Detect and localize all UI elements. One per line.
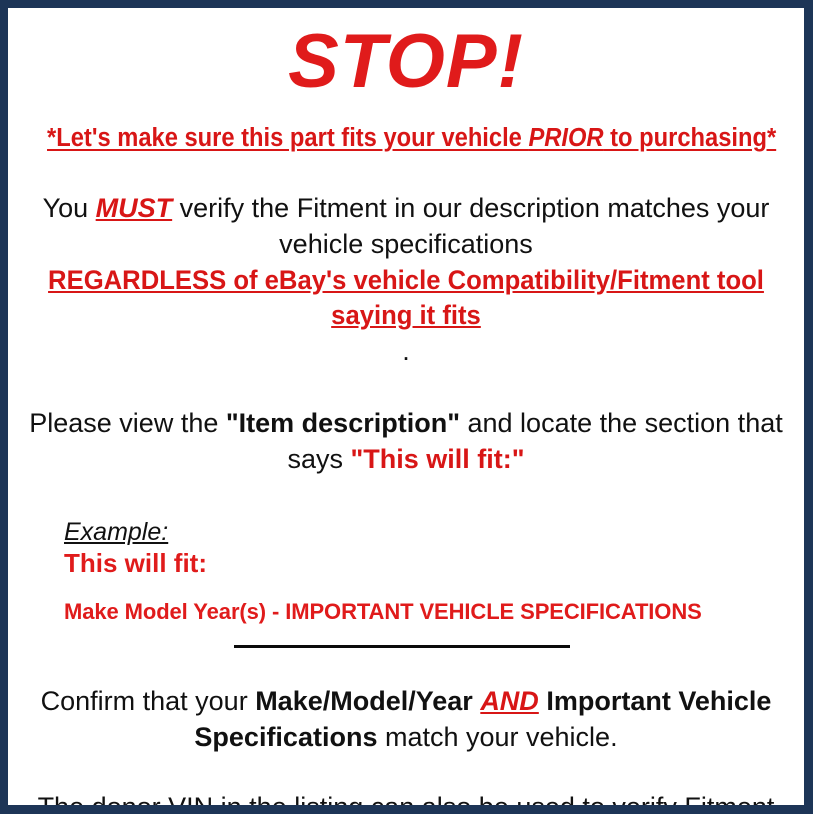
subtitle-before-text: *Let's make sure this part fits your veh… bbox=[47, 124, 528, 152]
make-model-year-emphasis: Make/Model/Year bbox=[255, 686, 473, 716]
confirm-seg4: match your vehicle. bbox=[377, 722, 617, 752]
regardless-emphasis: REGARDLESS of eBay's vehicle Compatibili… bbox=[39, 263, 772, 334]
fitment-notice-card: STOP! *Let's make sure this part fits yo… bbox=[0, 0, 813, 814]
notice-inner-panel: STOP! *Let's make sure this part fits yo… bbox=[8, 8, 804, 805]
please-seg1: Please view the bbox=[29, 408, 226, 438]
paragraph-donor-vin: The donor VIN in the listing can also be… bbox=[20, 756, 792, 805]
example-label: Example: bbox=[64, 518, 168, 546]
confirm-seg1: Confirm that your bbox=[41, 686, 256, 716]
must-seg1: You bbox=[43, 193, 96, 223]
example-label-row: Example: bbox=[64, 518, 792, 546]
item-description-emphasis: "Item description" bbox=[226, 408, 460, 438]
paragraph-must-verify: You MUST verify the Fitment in our descr… bbox=[20, 153, 792, 369]
and-emphasis: AND bbox=[480, 686, 539, 716]
must-seg3: . bbox=[402, 336, 410, 366]
this-will-fit-emphasis: "This will fit:" bbox=[350, 444, 524, 474]
subtitle-line: *Let's make sure this part fits your veh… bbox=[47, 100, 765, 153]
must-seg2: verify the Fitment in our description ma… bbox=[172, 193, 769, 259]
subtitle-after-text: to purchasing* bbox=[604, 124, 777, 152]
example-block: Example: This will fit: Make Model Year(… bbox=[20, 478, 792, 626]
divider-wrapper bbox=[20, 625, 792, 648]
must-emphasis: MUST bbox=[96, 193, 173, 223]
example-specification-line: Make Model Year(s) - IMPORTANT VEHICLE S… bbox=[64, 579, 792, 625]
example-this-will-fit-line: This will fit: bbox=[64, 546, 792, 579]
paragraph-please-view: Please view the "Item description" and l… bbox=[20, 369, 792, 477]
stop-heading: STOP! bbox=[20, 8, 792, 100]
paragraph-confirm-match: Confirm that your Make/Model/Year AND Im… bbox=[20, 648, 792, 755]
subtitle-prior-emphasis: PRIOR bbox=[528, 124, 603, 152]
